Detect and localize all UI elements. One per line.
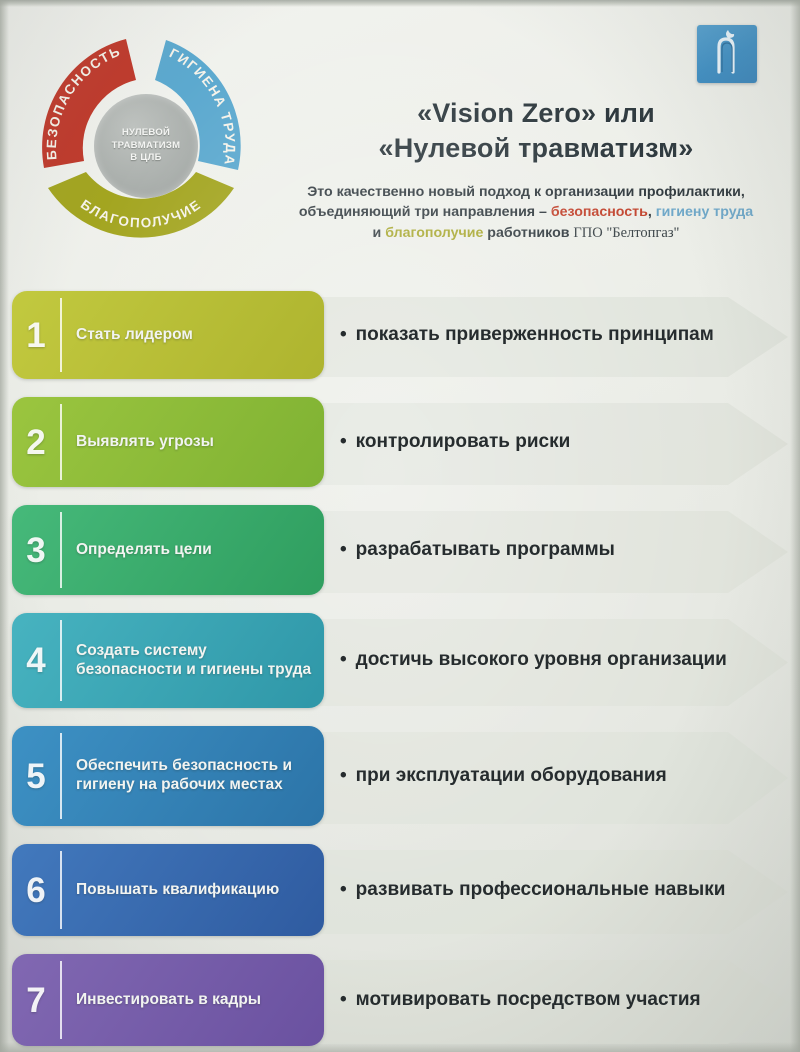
bullet-dot: • [340, 764, 347, 788]
step-bullet-text: разрабатывать программы [356, 538, 615, 562]
step-bullet-text: мотивировать посредством участия [356, 988, 701, 1012]
step-label: Определять цели [62, 541, 324, 560]
poster-header: БЕЗОПАСНОСТЬ ГИГИЕНА ТРУДА БЛАГОПОЛУЧИЕ … [0, 0, 800, 272]
step-pill-4[interactable]: 4Создать систему безопасности и гигиены … [12, 613, 324, 708]
step-bullet: •разрабатывать программы [340, 538, 780, 562]
step-number: 6 [12, 873, 60, 908]
subtitle-line2-before: объединяющий три направления – [299, 204, 551, 220]
step-number: 2 [12, 425, 60, 460]
title-line-1: «Vision Zero» или [288, 96, 784, 131]
bullet-dot: • [340, 430, 347, 454]
step-bullet-text: контролировать риски [356, 430, 571, 454]
keyword-wellbeing: благополучие [385, 225, 483, 241]
beltopgaz-logo [697, 25, 757, 83]
step-bullet-text: достичь высокого уровня организации [356, 648, 727, 672]
subtitle-line2-mid: , [648, 204, 656, 220]
step-row: 3Определять цели•разрабатывать программы [0, 496, 800, 604]
step-number: 1 [12, 318, 60, 353]
organization-name: ГПО "Белтопгаз" [573, 225, 679, 241]
title-line-2: «Нулевой травматизм» [288, 131, 784, 166]
step-pill-6[interactable]: 6Повышать квалификацию [12, 844, 324, 936]
hub-line-3: В ЦЛБ [130, 152, 161, 163]
step-row: 2Выявлять угрозы•контролировать риски [0, 388, 800, 496]
step-bullet: •развивать профессиональные навыки [340, 878, 780, 902]
step-row: 7Инвестировать в кадры•мотивировать поср… [0, 945, 800, 1052]
step-label: Обеспечить безопасность и гигиену на раб… [62, 757, 324, 795]
step-bullet-text: показать приверженность принципам [356, 323, 714, 347]
step-number: 5 [12, 759, 60, 794]
step-bullet-text: развивать профессиональные навыки [356, 878, 726, 902]
vision-zero-donut-diagram: БЕЗОПАСНОСТЬ ГИГИЕНА ТРУДА БЛАГОПОЛУЧИЕ … [18, 18, 274, 258]
step-row: 4Создать систему безопасности и гигиены … [0, 604, 800, 717]
step-bullet: •контролировать риски [340, 430, 780, 454]
bullet-dot: • [340, 878, 347, 902]
step-label: Инвестировать в кадры [62, 991, 324, 1010]
step-number: 7 [12, 983, 60, 1018]
step-pill-2[interactable]: 2Выявлять угрозы [12, 397, 324, 487]
step-pill-7[interactable]: 7Инвестировать в кадры [12, 954, 324, 1046]
step-bullet-text: при эксплуатации оборудования [356, 764, 667, 788]
step-pill-5[interactable]: 5Обеспечить безопасность и гигиену на ра… [12, 726, 324, 826]
bullet-dot: • [340, 648, 347, 672]
page-title: «Vision Zero» или «Нулевой травматизм» [288, 96, 784, 166]
step-label: Повышать квалификацию [62, 881, 324, 900]
hub-line-2: ТРАВМАТИЗМ [112, 140, 181, 151]
bullet-dot: • [340, 988, 347, 1012]
keyword-hygiene: гигиену труда [656, 204, 753, 220]
step-number: 3 [12, 533, 60, 568]
step-label: Выявлять угрозы [62, 433, 324, 452]
step-label: Стать лидером [62, 326, 324, 345]
steps-list: 1Стать лидером•показать приверженность п… [0, 282, 800, 1052]
step-pill-3[interactable]: 3Определять цели [12, 505, 324, 595]
step-pill-1[interactable]: 1Стать лидером [12, 291, 324, 379]
hub-line-1: НУЛЕВОЙ [122, 127, 170, 138]
bullet-dot: • [340, 323, 347, 347]
subtitle-line3-before: и [373, 225, 386, 241]
step-row: 1Стать лидером•показать приверженность п… [0, 282, 800, 388]
bullet-dot: • [340, 538, 347, 562]
donut-center-hub: НУЛЕВОЙ ТРАВМАТИЗМ В ЦЛБ [94, 94, 198, 198]
subtitle-line3-after: работников [483, 225, 569, 241]
step-label: Создать систему безопасности и гигиены т… [62, 642, 324, 680]
page-subtitle: Это качественно новый подход к организац… [262, 182, 790, 243]
step-number: 4 [12, 643, 60, 678]
subtitle-line-1: Это качественно новый подход к организац… [262, 182, 790, 202]
step-bullet: •мотивировать посредством участия [340, 988, 780, 1012]
keyword-safety: безопасность [551, 204, 648, 220]
subtitle-line-2: объединяющий три направления – безопасно… [262, 202, 790, 222]
step-row: 5Обеспечить безопасность и гигиену на ра… [0, 717, 800, 835]
step-bullet: •показать приверженность принципам [340, 323, 780, 347]
subtitle-line-3: и благополучие работников ГПО "Белтопгаз… [262, 223, 790, 244]
step-row: 6Повышать квалификацию•развивать професс… [0, 835, 800, 945]
poster-root: БЕЗОПАСНОСТЬ ГИГИЕНА ТРУДА БЛАГОПОЛУЧИЕ … [0, 0, 800, 1052]
step-bullet: •при эксплуатации оборудования [340, 764, 780, 788]
step-bullet: •достичь высокого уровня организации [340, 648, 780, 672]
